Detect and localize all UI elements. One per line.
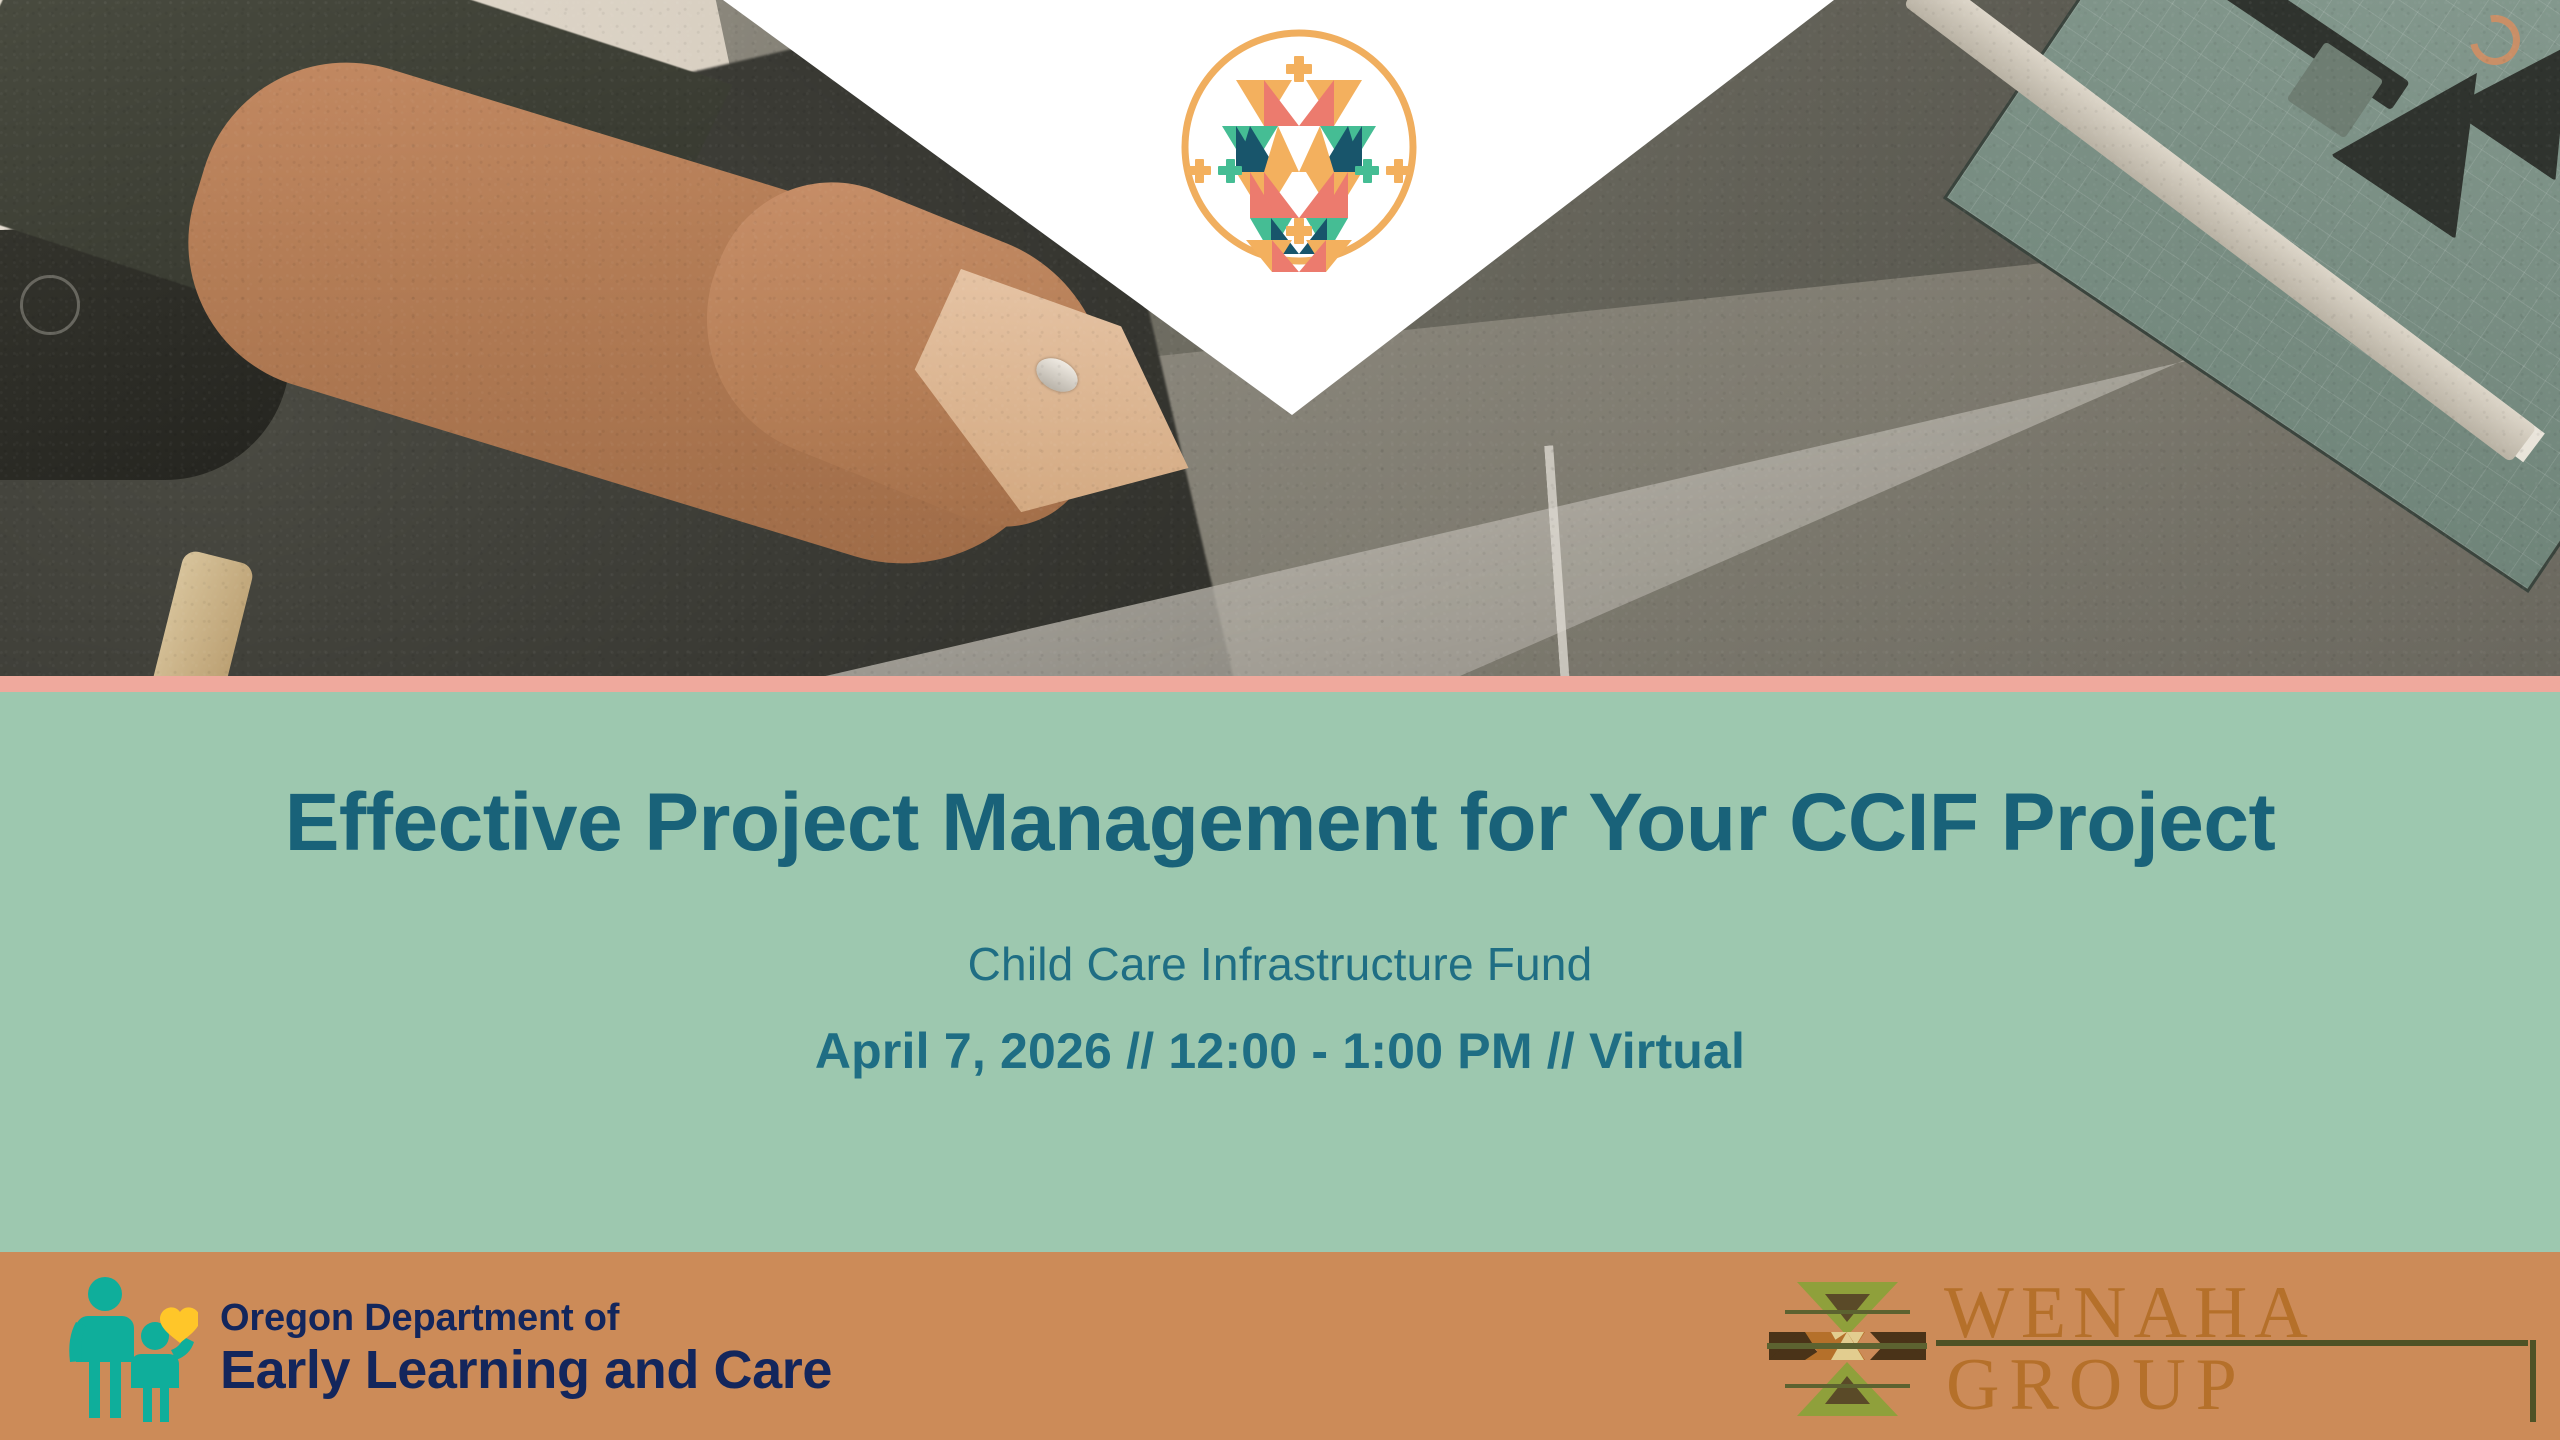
event-flyer: Effective Project Management for Your CC…	[0, 0, 2560, 1440]
content-band: Effective Project Management for Your CC…	[0, 692, 2560, 1252]
page-title: Effective Project Management for Your CC…	[0, 780, 2560, 866]
program-subtitle: Child Care Infrastructure Fund	[0, 937, 2560, 991]
event-datetime: April 7, 2026 // 12:00 - 1:00 PM // Virt…	[0, 1022, 2560, 1080]
wenaha-wordmark: WENAHA GROUP	[1936, 1274, 2536, 1424]
wenaha-vertical-rule	[2530, 1340, 2536, 1422]
footer-bar: Oregon Department of Early Learning and …	[0, 1252, 2560, 1440]
wenaha-line-1: WENAHA	[1944, 1276, 2315, 1350]
wenaha-geometric-diamond-icon	[1765, 1274, 1930, 1424]
delc-line-2: Early Learning and Care	[220, 1343, 832, 1397]
ccif-emblem-icon	[1174, 22, 1424, 272]
salmon-divider-bar	[0, 676, 2560, 692]
delc-wordmark: Oregon Department of Early Learning and …	[220, 1299, 832, 1397]
wenaha-line-2: GROUP	[1946, 1348, 2247, 1422]
oregon-delc-lockup: Oregon Department of Early Learning and …	[58, 1274, 832, 1422]
delc-line-1: Oregon Department of	[220, 1299, 832, 1337]
adult-and-child-figures-icon	[58, 1274, 198, 1422]
wenaha-group-lockup: WENAHA GROUP	[1765, 1274, 2536, 1424]
